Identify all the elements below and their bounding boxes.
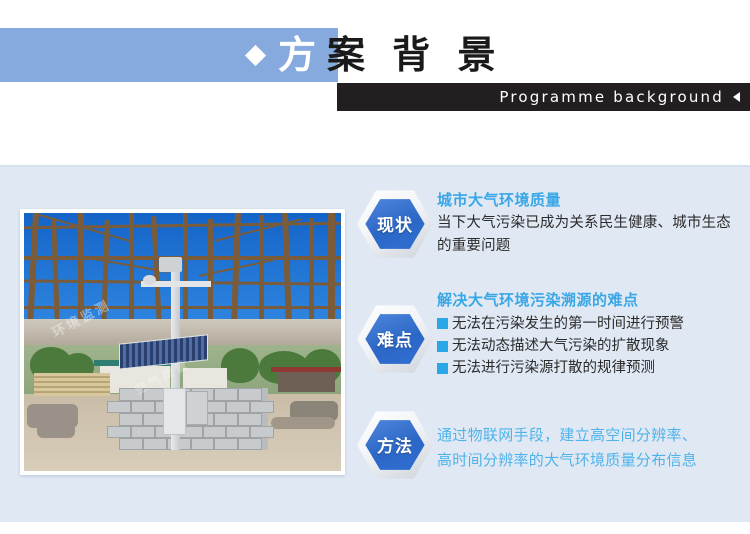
page-title-part-white: 方: [278, 36, 323, 74]
site-photo-frame: 环境监测 空气质量: [20, 209, 345, 475]
square-bullet-icon: [437, 318, 448, 329]
section-body-line: 的重要问题: [437, 235, 742, 258]
list-item: 无法进行污染源打散的规律预测: [437, 357, 742, 379]
header-subtitle: Programme background: [337, 83, 750, 111]
slide-header: 方 案 背 景 Programme background: [0, 0, 750, 130]
section-block-difficulty: 解决大气环境污染溯源的难点 无法在污染发生的第一时间进行预警 无法动态描述大气污…: [437, 289, 742, 380]
photo-station-sensor: [159, 257, 183, 272]
slide-root: 方 案 背 景 Programme background: [0, 0, 750, 534]
section-block-method: 通过物联网手段，建立高空间分辨率、 高时间分辨率的大气环境质量分布信息: [437, 423, 742, 473]
list-item: 无法动态描述大气污染的扩散现象: [437, 335, 742, 357]
section-badge-status[interactable]: 现状: [357, 189, 433, 259]
square-bullet-icon: [437, 363, 448, 374]
left-arrow-icon: [733, 92, 740, 102]
diamond-icon: [245, 44, 266, 65]
page-title: 方 案 背 景: [246, 24, 502, 86]
section-badge-difficulty[interactable]: 难点: [357, 304, 433, 374]
section-badge-label: 难点: [377, 326, 413, 351]
section-accent-line: 高时间分辨率的大气环境质量分布信息: [437, 448, 742, 473]
header-subtitle-text: Programme background: [499, 88, 724, 106]
section-title: 解决大气环境污染溯源的难点: [437, 289, 742, 312]
list-item-label: 无法动态描述大气污染的扩散现象: [452, 335, 670, 357]
list-item: 无法在污染发生的第一时间进行预警: [437, 313, 742, 335]
photo-lumber-stack: [34, 373, 110, 396]
photo-control-box: [163, 388, 185, 434]
content-panel: 环境监测 空气质量 现状 城市大气环境质量 当下大气污染已成为关系民生健康、城市…: [0, 165, 750, 522]
section-accent-line: 通过物联网手段，建立高空间分辨率、: [437, 423, 742, 448]
section-body-line: 当下大气污染已成为关系民生健康、城市生态: [437, 212, 742, 235]
photo-scaffolding: [24, 213, 341, 327]
page-title-part-black: 案 背 景: [327, 36, 502, 74]
list-item-label: 无法进行污染源打散的规律预测: [452, 357, 655, 379]
photo-battery-box: [186, 391, 208, 425]
site-photo: 环境监测 空气质量: [24, 213, 341, 471]
section-bullet-list: 无法在污染发生的第一时间进行预警 无法动态描述大气污染的扩散现象 无法进行污染源…: [437, 313, 742, 380]
section-block-status: 城市大气环境质量 当下大气污染已成为关系民生健康、城市生态 的重要问题: [437, 189, 742, 258]
section-badge-method[interactable]: 方法: [357, 410, 433, 480]
photo-anemometer-icon: [143, 275, 156, 285]
section-title: 城市大气环境质量: [437, 189, 742, 212]
list-item-label: 无法在污染发生的第一时间进行预警: [452, 313, 684, 335]
square-bullet-icon: [437, 341, 448, 352]
section-badge-label: 现状: [377, 211, 413, 236]
section-badge-label: 方法: [377, 432, 413, 457]
